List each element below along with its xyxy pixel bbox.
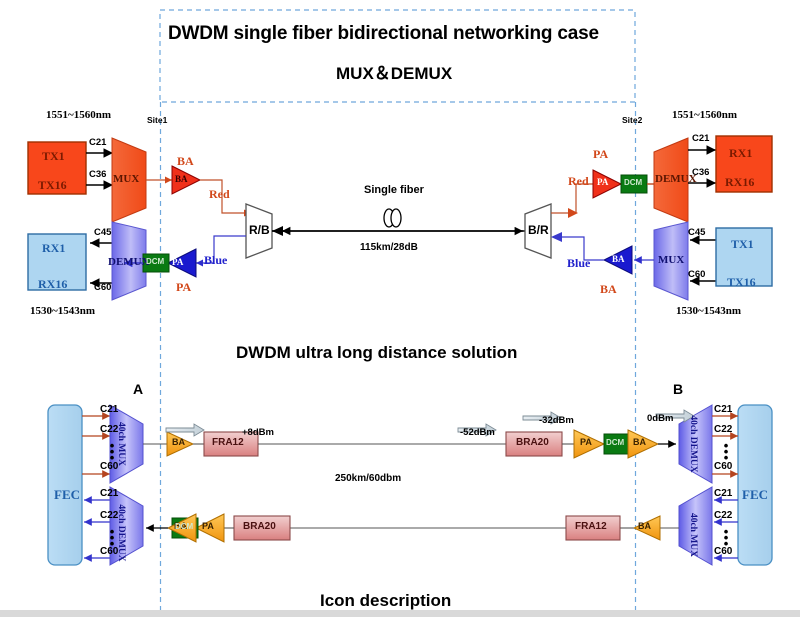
demux-40ch-right-label-wrap: 40ch DEMUX <box>684 410 700 480</box>
single-fiber-label: Single fiber <box>364 185 424 196</box>
lower-left-ch-c60-b: C60 <box>100 547 118 557</box>
pa-label-forward: PA <box>580 438 592 447</box>
lower-fiber-spec: 250km/60dbm <box>335 474 401 484</box>
pa-caption-right: PA <box>593 148 608 160</box>
br-filter-label: B/R <box>528 224 549 236</box>
node-b-label: B <box>673 382 683 396</box>
fec-right <box>738 405 772 565</box>
ba-caption-left: BA <box>177 155 194 167</box>
demux-label-right: DEMUX <box>655 174 697 185</box>
mux-label-right: MUX <box>658 255 684 266</box>
dcm-label-forward: DCM <box>606 439 624 447</box>
footer-title: Icon description <box>320 592 451 609</box>
channel-c60-left: C60 <box>94 283 111 293</box>
tx1-label-right: TX1 <box>731 238 754 250</box>
mux-40ch-right-label-wrap: 40ch MUX <box>684 497 700 573</box>
lower-left-dots-b: ••• <box>106 529 118 547</box>
tx1-label-left: TX1 <box>42 150 65 162</box>
blue-label-right: Blue <box>567 257 590 269</box>
fra12-label-right: FRA12 <box>575 522 607 532</box>
demux-40ch-right-label: 40ch DEMUX <box>687 415 697 472</box>
channel-c21-left: C21 <box>89 138 106 148</box>
bra20-label-reverse: BRA20 <box>243 522 276 532</box>
power-label-32dbm: -32dBm <box>539 416 574 426</box>
page-subtitle: MUX＆DEMUX <box>336 65 452 82</box>
fra12-label-left: FRA12 <box>212 438 244 448</box>
rx16-label-right: RX16 <box>725 176 754 188</box>
fec-left <box>48 405 82 565</box>
rx1-label-right: RX1 <box>729 147 752 159</box>
ba-inner-label-right: BA <box>612 255 625 264</box>
pa-label-reverse: PA <box>202 522 214 531</box>
site-label-left: Site1 <box>147 116 167 125</box>
wavelength-bottom-left: 1530~1543nm <box>30 306 95 317</box>
bottom-strip <box>0 610 800 617</box>
channel-c45-left: C45 <box>94 228 111 238</box>
lower-left-ch-c21-a: C21 <box>100 405 118 415</box>
power-label-52dbm: -52dBm <box>460 428 495 438</box>
lower-left-ch-c22-a: C22 <box>100 425 118 435</box>
pa-inner-label-left: PA <box>172 258 183 267</box>
tx16-label-right: TX16 <box>727 276 756 288</box>
ba-inner-label-left: BA <box>175 175 188 184</box>
lower-section-title: DWDM ultra long distance solution <box>236 344 517 361</box>
diagram-canvas: DWDM single fiber bidirectional networki… <box>0 0 800 617</box>
lower-right-ch-c60-b: C60 <box>714 547 732 557</box>
mux-label-left: MUX <box>113 174 139 185</box>
site-label-right: Site2 <box>622 116 642 125</box>
bra20-label-forward: BRA20 <box>516 438 549 448</box>
page-title: DWDM single fiber bidirectional networki… <box>168 24 599 43</box>
power-label-8dbm: +8dBm <box>242 428 274 438</box>
dcm-label-right: DCM <box>624 179 642 187</box>
ba-caption-right: BA <box>600 283 617 295</box>
fiber-spec-label: 115km/28dB <box>360 243 418 253</box>
dcm-label-reverse: DCM <box>175 523 193 531</box>
wavelength-top-left: 1551~1560nm <box>46 110 111 121</box>
rb-filter-label: R/B <box>249 224 270 236</box>
red-label-right: Red <box>568 175 589 187</box>
ba-label-lower-left: BA <box>172 438 185 447</box>
rx1-label-left: RX1 <box>42 242 65 254</box>
upper-network-diagram <box>0 100 800 340</box>
channel-c36-right: C36 <box>692 168 709 178</box>
red-label-left: Red <box>209 188 230 200</box>
wavelength-top-right: 1551~1560nm <box>672 110 737 121</box>
channel-c36-left: C36 <box>89 170 106 180</box>
power-label-0dbm: 0dBm <box>647 414 673 424</box>
lower-left-ch-c21-b: C21 <box>100 489 118 499</box>
lower-right-dots-a: ••• <box>720 443 732 461</box>
lower-right-ch-c22-a: C22 <box>714 425 732 435</box>
blue-label-left: Blue <box>204 254 227 266</box>
node-a-label: A <box>133 382 143 396</box>
ba-label-forward: BA <box>633 438 646 447</box>
dcm-label-left: DCM <box>146 258 164 266</box>
pa-caption-left: PA <box>176 281 191 293</box>
channel-c45-right: C45 <box>688 228 705 238</box>
ba-label-lower-right: BA <box>638 522 651 531</box>
fec-right-label: FEC <box>742 488 768 501</box>
lower-right-dots-b: ••• <box>720 529 732 547</box>
rx16-label-left: RX16 <box>38 278 67 290</box>
lower-left-ch-c60-a: C60 <box>100 462 118 472</box>
lower-right-ch-c22-b: C22 <box>714 511 732 521</box>
mux-40ch-right-label: 40ch MUX <box>687 513 697 557</box>
fec-left-label: FEC <box>54 488 80 501</box>
lower-right-ch-c21-a: C21 <box>714 405 732 415</box>
lower-right-ch-c60-a: C60 <box>714 462 732 472</box>
pa-inner-label-right: PA <box>597 178 608 187</box>
lower-left-ch-c22-b: C22 <box>100 511 118 521</box>
demux-label-left: DEMUX <box>108 257 150 268</box>
channel-c60-right: C60 <box>688 270 705 280</box>
lower-left-dots-a: ••• <box>106 443 118 461</box>
lower-right-ch-c21-b: C21 <box>714 489 732 499</box>
wavelength-bottom-right: 1530~1543nm <box>676 306 741 317</box>
channel-c21-right: C21 <box>692 134 709 144</box>
tx16-label-left: TX16 <box>38 179 67 191</box>
